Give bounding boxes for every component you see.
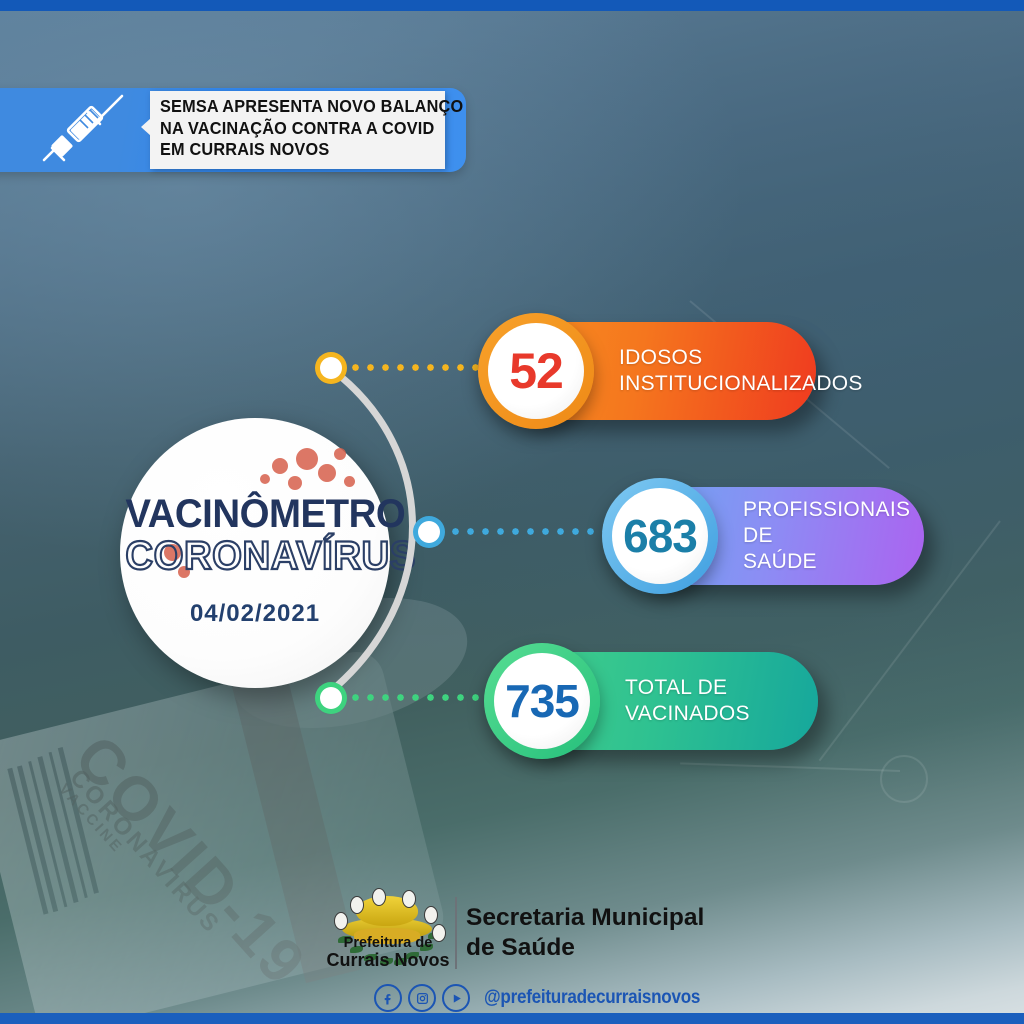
- department-name: Secretaria Municipal de Saúde: [466, 903, 704, 963]
- node-dot-green: [320, 687, 342, 709]
- top-rule: [0, 0, 1024, 11]
- crest-caption-line1: Prefeitura de: [332, 935, 444, 951]
- header-banner: SEMSA APRESENTA NOVO BALANÇO NA VACINAÇÃ…: [0, 88, 466, 172]
- vial-label-sub: CORONAVIRUS: [64, 764, 226, 940]
- social-handle[interactable]: @prefeituradecurraisnovos: [484, 987, 700, 1009]
- vial-label-main: COVID-19: [60, 722, 320, 1000]
- footer-divider: [455, 897, 457, 969]
- stat-label-total: TOTAL DE VACINADOS: [625, 675, 750, 727]
- syringe-icon: [30, 94, 140, 166]
- decor-node-1: [880, 755, 928, 803]
- dotted-line-orange: [348, 364, 478, 371]
- dotted-line-blue: [448, 528, 618, 535]
- infographic-canvas: COVID-19 CORONAVIRUS VACCINE: [0, 0, 1024, 1024]
- decor-line-2: [680, 762, 900, 772]
- node-dot-blue: [418, 521, 440, 543]
- stat-knob-total: 735: [484, 643, 600, 759]
- banner-line-1: SEMSA APRESENTA NOVO BALANÇO: [160, 96, 430, 118]
- vial-label-sub2: VACCINE: [55, 781, 126, 857]
- stat-knob-inner-idosos: 52: [488, 323, 584, 419]
- banner-line-2: NA VACINAÇÃO CONTRA A COVID: [160, 118, 430, 140]
- crest-caption-line2: Currais Novos: [324, 950, 452, 971]
- banner-headline: SEMSA APRESENTA NOVO BALANÇO NA VACINAÇÃ…: [160, 96, 430, 161]
- node-dot-orange: [320, 357, 342, 379]
- social-bar: @prefeituradecurraisnovos: [374, 984, 724, 1012]
- stat-number-idosos: 52: [509, 342, 563, 400]
- stat-knob-inner-profissionais: 683: [612, 488, 708, 584]
- instagram-icon[interactable]: [408, 984, 436, 1012]
- stat-pill-total[interactable]: TOTAL DE VACINADOS 735: [500, 652, 818, 750]
- bottom-rule: [0, 1013, 1024, 1024]
- stat-number-total: 735: [505, 674, 579, 728]
- stat-label-profissionais: PROFISSIONAIS DE SAÚDE: [743, 497, 924, 575]
- banner-line-3: EM CURRAIS NOVOS: [160, 139, 430, 161]
- stat-pill-profissionais[interactable]: PROFISSIONAIS DE SAÚDE 683: [618, 487, 924, 585]
- stat-label-idosos: IDOSOS INSTITUCIONALIZADOS: [619, 345, 863, 397]
- stat-number-profissionais: 683: [623, 509, 697, 563]
- stat-knob-profissionais: 683: [602, 478, 718, 594]
- stat-pill-idosos[interactable]: IDOSOS INSTITUCIONALIZADOS 52: [494, 322, 816, 420]
- facebook-icon[interactable]: [374, 984, 402, 1012]
- stat-knob-idosos: 52: [478, 313, 594, 429]
- youtube-play-icon[interactable]: [442, 984, 470, 1012]
- stat-knob-inner-total: 735: [494, 653, 590, 749]
- dotted-line-green: [348, 694, 488, 701]
